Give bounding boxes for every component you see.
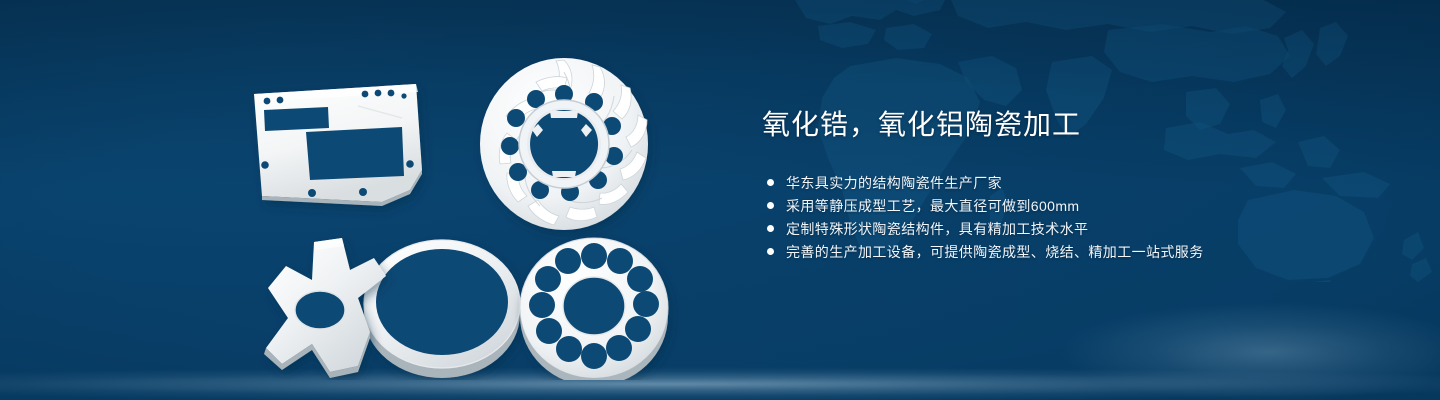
ceramic-thin-ring bbox=[364, 240, 520, 378]
product-photo-collage bbox=[232, 40, 712, 380]
bullet-dot-icon bbox=[767, 179, 774, 186]
list-item: 采用等静压成型工艺，最大直径可做到600mm bbox=[762, 199, 1382, 213]
ceramic-mounting-plate bbox=[254, 84, 422, 206]
bullet-dot-icon bbox=[767, 202, 774, 209]
list-item-label: 华东具实力的结构陶瓷件生产厂家 bbox=[786, 175, 1002, 191]
list-item: 华东具实力的结构陶瓷件生产厂家 bbox=[762, 176, 1382, 190]
bullet-dot-icon bbox=[767, 225, 774, 232]
ceramic-perforated-ring bbox=[520, 238, 668, 380]
list-item: 完善的生产加工设备，可提供陶瓷成型、烧结、精加工一站式服务 bbox=[762, 245, 1382, 259]
feature-list: 华东具实力的结构陶瓷件生产厂家 采用等静压成型工艺，最大直径可做到600mm 定… bbox=[762, 176, 1382, 259]
page-title: 氧化锆，氧化铝陶瓷加工 bbox=[762, 108, 1382, 142]
hero-banner: 氧化锆，氧化铝陶瓷加工 华东具实力的结构陶瓷件生产厂家 采用等静压成型工艺，最大… bbox=[0, 0, 1440, 400]
list-item-label: 采用等静压成型工艺，最大直径可做到600mm bbox=[786, 198, 1079, 214]
hero-copy: 氧化锆，氧化铝陶瓷加工 华东具实力的结构陶瓷件生产厂家 采用等静压成型工艺，最大… bbox=[762, 108, 1382, 268]
ceramic-impeller-disc bbox=[480, 58, 648, 230]
list-item-label: 定制特殊形状陶瓷结构件，具有精加工技术水平 bbox=[786, 221, 1088, 237]
bullet-dot-icon bbox=[767, 248, 774, 255]
list-item-label: 完善的生产加工设备，可提供陶瓷成型、烧结、精加工一站式服务 bbox=[786, 244, 1204, 260]
list-item: 定制特殊形状陶瓷结构件，具有精加工技术水平 bbox=[762, 222, 1382, 236]
